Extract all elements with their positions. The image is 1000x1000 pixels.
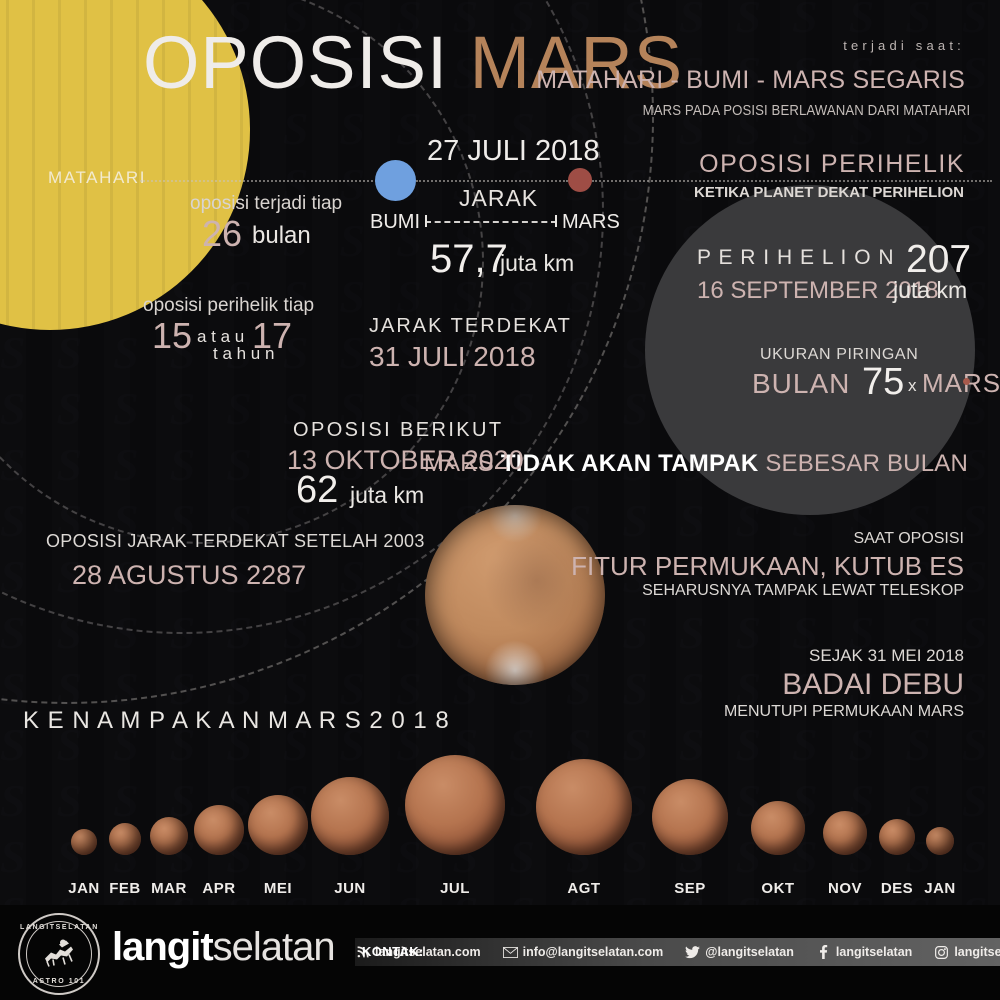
contact-label: KONTAK:	[362, 944, 424, 959]
month-label-sep-8: SEP	[674, 880, 706, 897]
month-label-nov-10: NOV	[828, 880, 862, 897]
month-label-des-11: DES	[881, 880, 913, 897]
perihelic-opposition-sub: KETIKA PLANET DEKAT PERIHELION	[694, 184, 964, 201]
alignment-line-mid	[416, 180, 568, 182]
opposition-frequency-label: oposisi terjadi tiap	[190, 193, 342, 215]
month-label-mar-2: MAR	[151, 880, 187, 897]
mars-label: MARS	[562, 211, 620, 234]
distance-value: 57,7	[430, 237, 508, 282]
mars-disc-sep-8	[652, 779, 728, 855]
mars-photo	[425, 505, 605, 685]
dust-storm-top: SEJAK 31 MEI 2018	[809, 646, 964, 666]
month-label-jan-12: JAN	[924, 880, 956, 897]
contact-item--langitselatan[interactable]: @langitselatan	[685, 945, 794, 959]
month-label-agt-7: AGT	[567, 880, 600, 897]
mars-disc-mei-4	[248, 795, 308, 855]
mars-disc-jul-6	[405, 755, 505, 855]
alignment-line-right	[592, 180, 992, 182]
disk-size-times: x	[908, 376, 917, 396]
perihelic-frequency-value1: 15	[152, 315, 192, 357]
horse-rider-icon	[39, 935, 79, 974]
disk-size-mars: MARS	[922, 368, 1000, 399]
header-eyebrow: terjadi saat:	[843, 38, 965, 53]
mars-disc-okt-9	[751, 801, 805, 855]
next-opposition-value: 62	[296, 469, 338, 512]
mars-size-dot	[963, 378, 970, 385]
perihelion-value: 207	[906, 238, 971, 282]
surface-main: FITUR PERMUKAAN, KUTUB ES	[571, 551, 964, 582]
month-label-apr-3: APR	[202, 880, 235, 897]
mars-disc-nov-10	[823, 811, 867, 855]
month-label-jul-6: JUL	[440, 880, 470, 897]
closest-since-date: 28 AGUSTUS 2287	[72, 560, 306, 591]
mars-dot	[568, 168, 592, 192]
contact-text: langitselatan	[836, 945, 912, 959]
seal-bottom-text: ASTRO 101	[20, 978, 98, 985]
disk-size-moon: BULAN	[752, 368, 850, 400]
contact-bar: langitselatan.cominfo@langitselatan.com@…	[355, 938, 1000, 966]
mars-disc-agt-7	[536, 759, 632, 855]
dust-storm-sub: MENUTUPI PERMUKAAN MARS	[724, 703, 964, 721]
closest-date: 31 JULI 2018	[369, 341, 536, 373]
title-word-oposisi: OPOSISI	[143, 21, 448, 104]
distance-tick-right	[555, 215, 557, 227]
mars-disc-mar-2	[150, 817, 188, 855]
monthly-appearance-row: JANFEBMARAPRMEIJUNJULAGTSEPOKTNOVDESJAN	[0, 755, 1000, 905]
month-label-mei-4: MEI	[264, 880, 292, 897]
contact-text: langitselatanmedia	[954, 945, 1000, 959]
brand-selatan: selatan	[213, 925, 335, 969]
brand-langit: langit	[112, 925, 213, 969]
mars-disc-des-11	[879, 819, 915, 855]
contact-item-langitselatanmedia[interactable]: langitselatanmedia	[934, 945, 1000, 959]
closest-since-label: OPOSISI JARAK TERDEKAT SETELAH 2003	[46, 531, 425, 552]
contact-text: info@langitselatan.com	[523, 945, 664, 959]
mars-disc-jan-12	[926, 827, 954, 855]
perihelic-frequency-label: oposisi perihelik tiap	[143, 295, 314, 317]
infographic-canvas: SSSSSSSSSSSSSSSSSSSSSSSSSSSSSSSSSSSSSSSS…	[0, 0, 1000, 1000]
dust-storm-main: BADAI DEBU	[782, 668, 964, 702]
month-label-okt-9: OKT	[761, 880, 794, 897]
header-alignment-line: MATAHARI - BUMI - MARS SEGARIS	[536, 66, 965, 95]
appearance-title: K E N A M P A K A N M A R S 2 0 1 8	[23, 707, 450, 735]
next-opposition-unit: juta km	[350, 482, 424, 509]
distance-measure-bar	[425, 221, 557, 223]
sun-label: MATAHARI	[48, 168, 146, 188]
mars-disc-jun-5	[311, 777, 389, 855]
month-label-jan-0: JAN	[68, 880, 100, 897]
distance-unit: juta km	[500, 250, 574, 277]
surface-top: SAAT OPOSISI	[853, 530, 964, 548]
perihelic-opposition-title: OPOSISI PERIHELIK	[699, 150, 965, 179]
contact-text: @langitselatan	[705, 945, 794, 959]
alignment-line-left	[140, 180, 380, 182]
disk-size-factor: 75	[862, 361, 904, 404]
month-label-jun-5: JUN	[334, 880, 366, 897]
seal-top-text: LANGITSELATAN	[20, 924, 98, 931]
perihelion-label: P E R I H E L I O N	[697, 246, 895, 270]
twitter-icon	[685, 945, 700, 959]
brand-wordmark: langitselatan	[112, 925, 335, 970]
surface-sub: SEHARUSNYA TAMPAK LEWAT TELESKOP	[642, 582, 964, 600]
next-opposition-label: OPOSISI BERIKUT	[293, 419, 503, 442]
distance-label: JARAK	[459, 185, 538, 212]
opposition-frequency-unit: bulan	[252, 222, 311, 250]
not-as-big-strong: TIDAK AKAN TAMPAK	[501, 450, 759, 477]
closest-label: JARAK TERDEKAT	[369, 315, 572, 338]
perihelic-frequency-unit: t a h u n	[213, 344, 274, 364]
mars-disc-feb-1	[109, 823, 141, 855]
not-as-big-post: SEBESAR BULAN	[758, 450, 968, 477]
earth-dot	[375, 160, 416, 201]
email-icon	[503, 945, 518, 959]
mars-disc-apr-3	[194, 805, 244, 855]
contact-item-langitselatan[interactable]: langitselatan	[816, 945, 912, 959]
contact-item-info-langitselatan-com[interactable]: info@langitselatan.com	[503, 945, 664, 959]
distance-tick-left	[425, 215, 427, 227]
mars-disc-jan-0	[71, 829, 97, 855]
opposition-frequency-value: 26	[202, 213, 242, 255]
langitselatan-seal: LANGITSELATAN ASTRO 101	[18, 913, 100, 995]
perihelion-unit: juta km	[893, 277, 967, 304]
earth-label: BUMI	[370, 211, 420, 234]
month-label-feb-1: FEB	[109, 880, 141, 897]
facebook-icon	[816, 945, 831, 959]
opposition-date: 27 JULI 2018	[427, 135, 600, 168]
header-alignment-sub: MARS PADA POSISI BERLAWANAN DARI MATAHAR…	[642, 102, 970, 119]
instagram-icon	[934, 945, 949, 959]
